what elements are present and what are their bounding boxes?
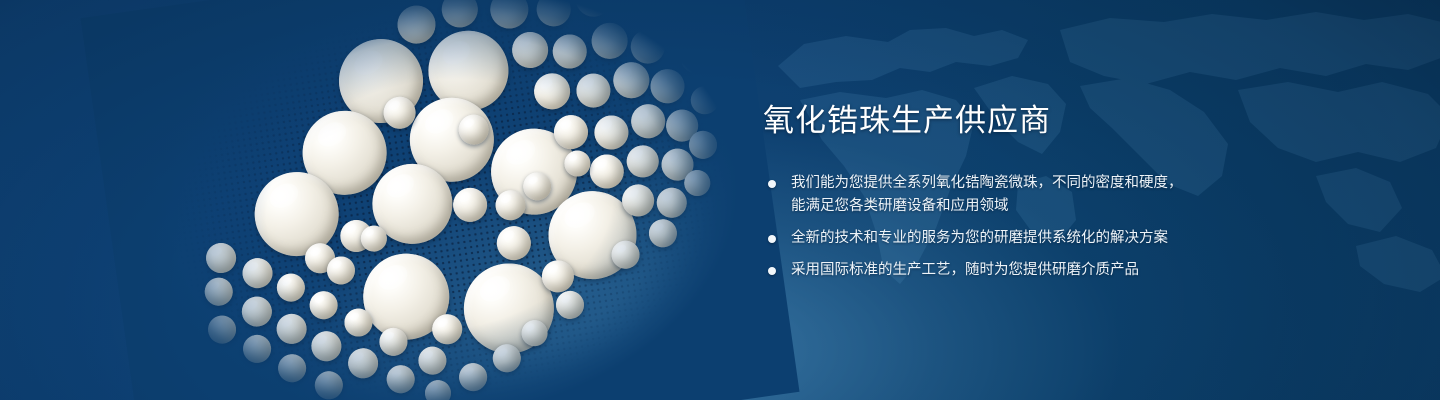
bullet-dot-icon [768, 180, 776, 188]
banner-title: 氧化锆珠生产供应商 [763, 104, 1233, 138]
feature-list: 我们能为您提供全系列氧化锆陶瓷微珠，不同的密度和硬度， 能满足您各类研磨设备和应… [763, 172, 1233, 282]
feature-item-1-line-2: 能满足您各类研磨设备和应用领域 [791, 195, 1233, 218]
feature-item-3-line-1: 采用国际标准的生产工艺，随时为您提供研磨介质产品 [791, 259, 1233, 282]
feature-item-2-line-1: 全新的技术和专业的服务为您的研磨提供系统化的解决方案 [791, 227, 1233, 250]
hero-banner: 氧化锆珠生产供应商 我们能为您提供全系列氧化锆陶瓷微珠，不同的密度和硬度， 能满… [0, 0, 1440, 400]
banner-copy: 氧化锆珠生产供应商 我们能为您提供全系列氧化锆陶瓷微珠，不同的密度和硬度， 能满… [763, 104, 1233, 282]
feature-item-3: 采用国际标准的生产工艺，随时为您提供研磨介质产品 [763, 259, 1233, 282]
bullet-dot-icon [768, 235, 776, 243]
feature-item-1: 我们能为您提供全系列氧化锆陶瓷微珠，不同的密度和硬度， 能满足您各类研磨设备和应… [763, 172, 1233, 218]
feature-item-1-line-1: 我们能为您提供全系列氧化锆陶瓷微珠，不同的密度和硬度， [791, 172, 1233, 195]
bullet-dot-icon [768, 267, 776, 275]
product-photo-zirconia-beads [123, 0, 757, 400]
feature-item-2: 全新的技术和专业的服务为您的研磨提供系统化的解决方案 [763, 227, 1233, 250]
